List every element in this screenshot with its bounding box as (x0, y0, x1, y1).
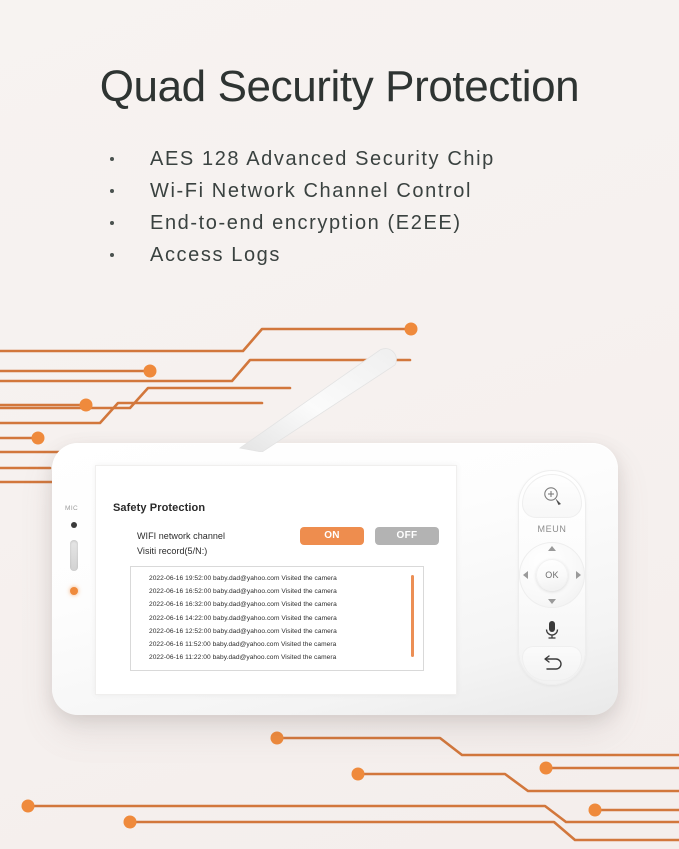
power-led-icon (70, 587, 78, 595)
feature-label: End-to-end encryption (E2EE) (150, 212, 462, 234)
magnifier-plus-icon (542, 485, 564, 507)
wifi-channel-on-button[interactable]: ON (300, 527, 364, 545)
feature-label: AES 128 Advanced Security Chip (150, 148, 495, 170)
triangle-left-icon[interactable] (523, 571, 528, 579)
log-row: 2022-06-16 19:52:00 baby.dad@yahoo.com V… (149, 572, 399, 585)
feature-list-item: Access Logs (108, 239, 679, 271)
feature-list-item: AES 128 Advanced Security Chip (108, 143, 679, 175)
device-screen: Safety Protection WIFI network channel V… (95, 465, 457, 695)
feature-label: Wi-Fi Network Channel Control (150, 180, 472, 202)
promo-page: Quad Security Protection AES 128 Advance… (0, 0, 679, 849)
log-row: 2022-06-16 16:32:00 baby.dad@yahoo.com V… (149, 598, 399, 611)
log-row: 2022-06-16 14:22:00 baby.dad@yahoo.com V… (149, 612, 399, 625)
triangle-up-icon[interactable] (548, 546, 556, 551)
baby-monitor-device: MIC Safety Protection WIFI network chann… (52, 443, 618, 715)
log-row: 2022-06-16 11:52:00 baby.dad@yahoo.com V… (149, 638, 399, 651)
return-arrow-icon (541, 654, 563, 672)
screen-title: Safety Protection (113, 502, 205, 514)
feature-list: AES 128 Advanced Security Chip Wi-Fi Net… (0, 143, 679, 271)
bullet-icon (110, 189, 114, 193)
device-antenna (232, 348, 404, 452)
zoom-button[interactable] (522, 474, 582, 518)
log-scrollbar-thumb[interactable] (411, 575, 414, 657)
triangle-down-icon[interactable] (548, 599, 556, 604)
visit-record-label: Visiti record(5/N:) (137, 546, 207, 556)
feature-list-item: Wi-Fi Network Channel Control (108, 175, 679, 207)
mic-label: MIC (65, 505, 78, 512)
speaker-slot (70, 540, 78, 571)
microphone-hole-icon (71, 522, 77, 528)
feature-list-item: End-to-end encryption (E2EE) (108, 207, 679, 239)
microphone-icon (540, 618, 564, 642)
bullet-icon (110, 253, 114, 257)
bullet-icon (110, 221, 114, 225)
wifi-channel-off-button[interactable]: OFF (375, 527, 439, 545)
microphone-button[interactable] (540, 618, 564, 642)
log-row: 2022-06-16 16:52:00 baby.dad@yahoo.com V… (149, 585, 399, 598)
log-scrollbar[interactable] (411, 573, 414, 666)
triangle-right-icon[interactable] (576, 571, 581, 579)
log-row: 2022-06-16 12:52:00 baby.dad@yahoo.com V… (149, 625, 399, 638)
control-pad: MEUN OK (518, 470, 586, 685)
log-row: 2022-06-16 11:22:00 baby.dad@yahoo.com V… (149, 651, 399, 664)
bullet-icon (110, 157, 114, 161)
headline-block: Quad Security Protection AES 128 Advance… (0, 0, 679, 271)
ok-button[interactable]: OK (536, 559, 568, 591)
access-log-panel: 2022-06-16 19:52:00 baby.dad@yahoo.com V… (130, 566, 424, 671)
menu-label: MEUN (518, 524, 586, 534)
back-button[interactable] (522, 646, 582, 681)
feature-label: Access Logs (150, 244, 281, 266)
access-log-list: 2022-06-16 19:52:00 baby.dad@yahoo.com V… (149, 572, 399, 664)
page-title: Quad Security Protection (0, 62, 679, 113)
wifi-channel-label: WIFI network channel (137, 531, 225, 541)
dpad: OK (519, 542, 585, 608)
